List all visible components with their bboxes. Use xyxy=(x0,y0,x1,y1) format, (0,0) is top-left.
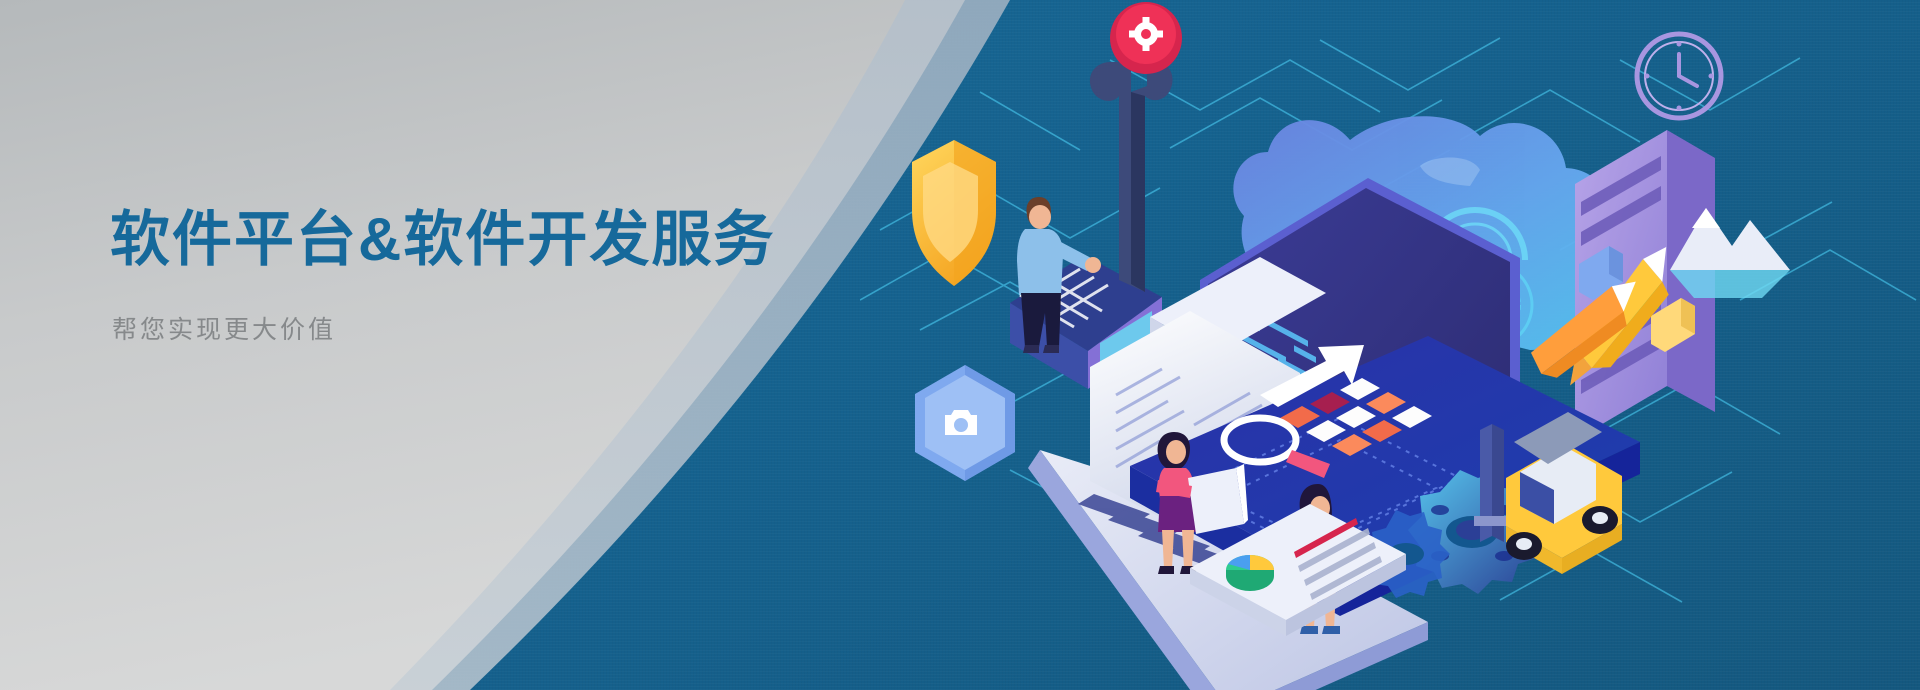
pie-chart-icon xyxy=(1226,555,1274,591)
page-subtitle: 帮您实现更大价值 xyxy=(112,310,775,346)
hero-banner: 软件平台&软件开发服务 帮您实现更大价值 xyxy=(0,0,1920,690)
wrench-icon xyxy=(1090,60,1173,292)
illustration-group xyxy=(860,0,1920,690)
banner-copy: 软件平台&软件开发服务 帮您实现更大价值 xyxy=(110,205,775,346)
page-title: 软件平台&软件开发服务 xyxy=(110,205,775,276)
camera-icon xyxy=(915,365,1015,481)
gear-badge-icon xyxy=(1110,2,1182,74)
